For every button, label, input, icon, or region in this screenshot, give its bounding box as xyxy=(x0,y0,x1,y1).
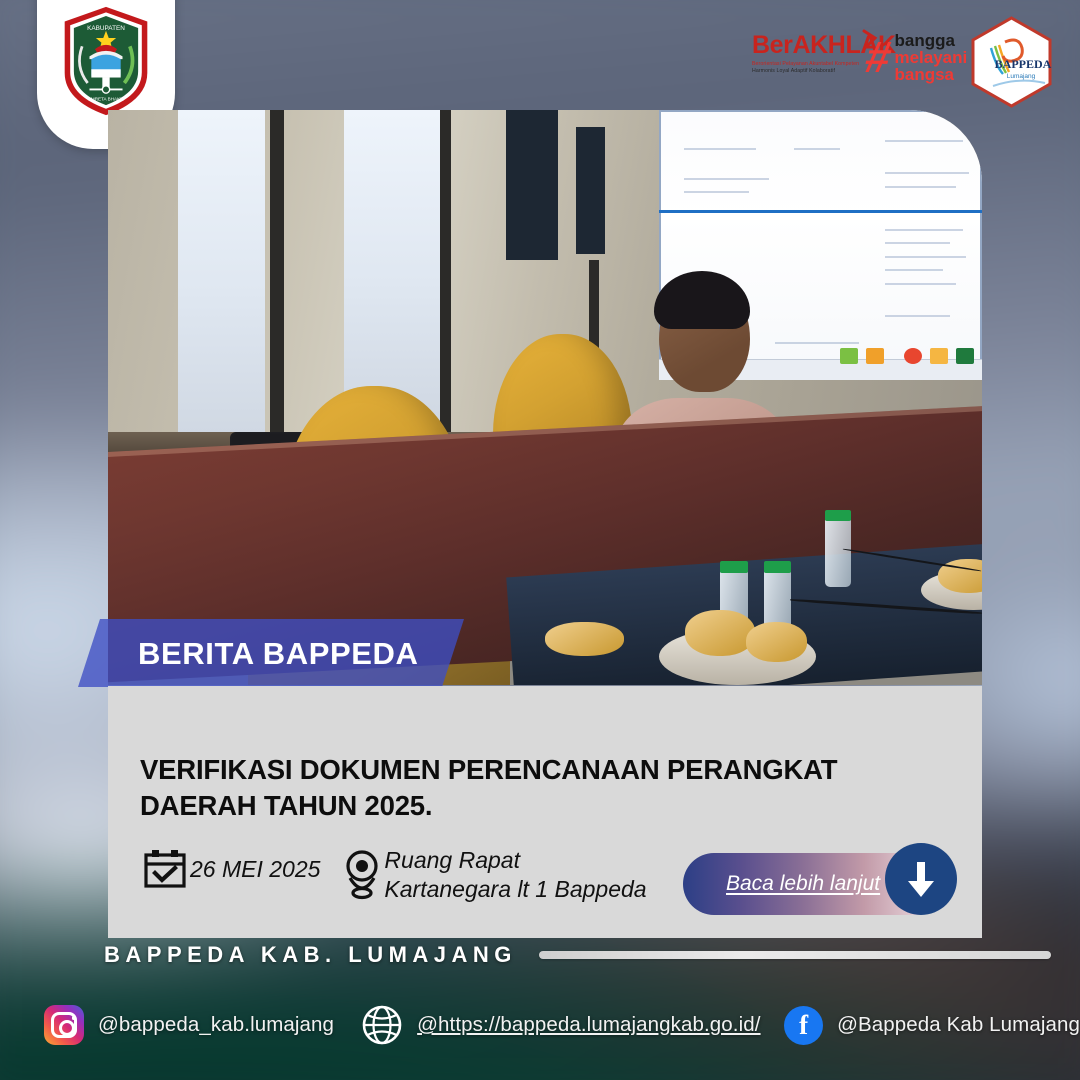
svg-text:Lumajang: Lumajang xyxy=(1007,73,1036,80)
footer-brand-row: BAPPEDA KAB. LUMAJANG xyxy=(104,944,1051,966)
facebook-handle: @Bappeda Kab Lumajang xyxy=(837,1013,1080,1037)
bappeda-lumajang-logo: BAPPEDA Lumajang xyxy=(969,16,1054,108)
event-location: Ruang Rapat Kartanegara lt 1 Bappeda xyxy=(384,846,646,904)
location-item: Ruang Rapat Kartanegara lt 1 Bappeda xyxy=(342,846,646,904)
date-item: 26 MEI 2025 xyxy=(142,846,320,892)
scroll-down-button[interactable] xyxy=(885,843,957,915)
kabupaten-lumajang-emblem-icon: KABUPATEN AMRETA BHAKTI xyxy=(60,5,152,117)
location-pin-icon xyxy=(342,848,382,902)
website-url[interactable]: @https://bappeda.lumajangkab.go.id/ xyxy=(417,1013,760,1037)
calendar-check-icon xyxy=(142,846,188,892)
berita-bappeda-banner: BERITA BAPPEDA xyxy=(78,619,464,687)
arrow-down-icon xyxy=(904,859,938,899)
banner-label: BERITA BAPPEDA xyxy=(138,638,419,669)
hashtag-icon: # xyxy=(861,36,895,80)
read-more-label: Baca lebih lanjut xyxy=(726,872,880,896)
berakhlak-subtitle-line2: Harmonis Loyal Adaptif Kolaboratif xyxy=(752,68,872,75)
instagram-handle: @bappeda_kab.lumajang xyxy=(98,1013,334,1037)
svg-text:AMRETA BHAKTI: AMRETA BHAKTI xyxy=(88,96,124,101)
svg-text:KABUPATEN: KABUPATEN xyxy=(87,24,125,31)
svg-text:BAPPEDA: BAPPEDA xyxy=(995,57,1052,71)
bangga-line3: bangsa xyxy=(894,66,967,83)
footer-brand-label: BAPPEDA KAB. LUMAJANG xyxy=(104,944,517,966)
berakhlak-subtitle-line1: Berorientasi Pelayanan Akuntabel Kompete… xyxy=(752,61,872,68)
facebook-icon[interactable]: f xyxy=(784,1006,823,1045)
berakhlak-logo: BerAKHLAK Berorientasi Pelayanan Akuntab… xyxy=(752,33,872,83)
headline-text: VERIFIKASI DOKUMEN PERENCANAAN PERANGKAT… xyxy=(140,752,950,824)
globe-icon[interactable] xyxy=(361,1004,403,1046)
event-date: 26 MEI 2025 xyxy=(190,855,320,884)
meta-row: 26 MEI 2025 Ruang Rapat Kartanegara lt 1… xyxy=(142,846,647,904)
content-panel: VERIFIKASI DOKUMEN PERENCANAAN PERANGKAT… xyxy=(108,686,982,938)
social-bar: @bappeda_kab.lumajang @https://bappeda.l… xyxy=(0,995,1080,1055)
bangga-line2: melayani xyxy=(894,49,967,66)
photo-scene xyxy=(108,110,982,685)
berakhlak-wordmark: BerAKHLAK xyxy=(752,33,872,58)
social-facebook[interactable]: f @Bappeda Kab Lumajang xyxy=(784,1006,1080,1045)
news-photo xyxy=(108,110,982,685)
social-website[interactable]: @https://bappeda.lumajangkab.go.id/ xyxy=(361,1004,760,1046)
social-instagram[interactable]: @bappeda_kab.lumajang xyxy=(44,1005,334,1045)
bangga-line1: bangga xyxy=(894,32,967,49)
bangga-melayani-bangsa-logo: # bangga melayani bangsa xyxy=(866,32,967,83)
instagram-icon[interactable] xyxy=(44,1005,84,1045)
footer-divider-line xyxy=(539,951,1051,959)
